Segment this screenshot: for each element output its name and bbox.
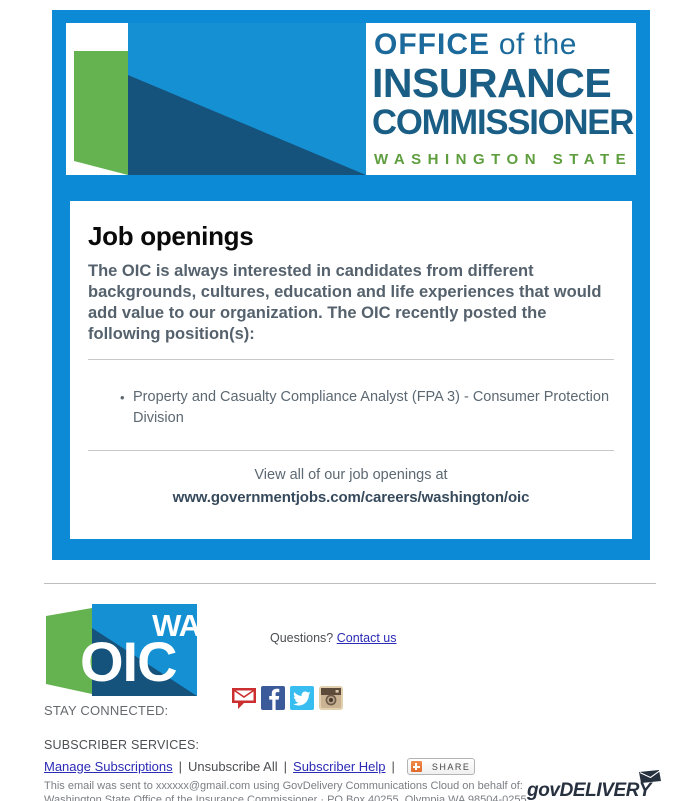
- envelope-icon: [639, 770, 661, 785]
- oic-logo-mark: [66, 23, 366, 175]
- logo-line-washington-state: WASHINGTON STATE: [374, 151, 632, 168]
- questions-line: Questions? Contact us: [270, 631, 396, 645]
- legal-line-1: This email was sent to xxxxxx@gmail.com …: [44, 779, 527, 793]
- twitter-icon[interactable]: [289, 685, 315, 711]
- logo-line-commissioner: COMMISSIONER: [372, 103, 633, 143]
- stay-connected-label: STAY CONNECTED:: [44, 703, 168, 718]
- footer-divider: [44, 583, 656, 584]
- link-separator-2: |: [278, 759, 293, 774]
- govdelivery-logo: govDELIVERY: [527, 770, 677, 801]
- logo-line-insurance: INSURANCE: [372, 60, 611, 107]
- list-item[interactable]: Property and Casualty Compliance Analyst…: [88, 387, 614, 429]
- job-openings-card: Job openings The OIC is always intereste…: [70, 201, 632, 539]
- intro-paragraph: The OIC is always interested in candidat…: [88, 261, 608, 345]
- view-all-url[interactable]: www.governmentjobs.com/careers/washingto…: [70, 489, 632, 506]
- view-all-label: View all of our job openings at: [70, 467, 632, 483]
- instagram-icon[interactable]: [318, 685, 344, 711]
- share-button-label: SHARE: [432, 762, 471, 772]
- divider-bottom: [88, 450, 614, 451]
- manage-subscriptions-link[interactable]: Manage Subscriptions: [44, 759, 173, 774]
- legal-line-2: Washington State Office of the Insurance…: [44, 793, 527, 801]
- email-icon[interactable]: [231, 685, 257, 711]
- wa-logo-bottom-text: OIC: [80, 634, 177, 690]
- subscriber-help-link[interactable]: Subscriber Help: [293, 759, 386, 774]
- subscriber-links-row: Manage Subscriptions | Unsubscribe All |…: [44, 758, 475, 775]
- oic-logo-wordmark: OFFICE of the INSURANCE COMMISSIONER WAS…: [366, 23, 636, 175]
- link-separator-3: |: [386, 759, 401, 774]
- job-list: Property and Casualty Compliance Analyst…: [88, 387, 614, 429]
- share-button[interactable]: SHARE: [407, 758, 476, 775]
- link-separator-1: |: [173, 759, 188, 774]
- email-page: OFFICE of the INSURANCE COMMISSIONER WAS…: [0, 0, 700, 801]
- govdelivery-wordmark: govDELIVERY: [527, 780, 651, 801]
- wa-oic-logo: WA OIC: [44, 598, 210, 696]
- contact-us-link[interactable]: Contact us: [337, 631, 397, 645]
- unsubscribe-all-link[interactable]: Unsubscribe All: [188, 759, 278, 774]
- social-links-row: [231, 685, 344, 711]
- logo-shapes-svg: [66, 23, 366, 175]
- page-title: Job openings: [88, 221, 253, 252]
- questions-label: Questions?: [270, 631, 337, 645]
- facebook-icon[interactable]: [260, 685, 286, 711]
- divider-top: [88, 359, 614, 360]
- legal-text: This email was sent to xxxxxx@gmail.com …: [44, 779, 527, 801]
- plus-icon: [411, 761, 422, 772]
- logo-line-office: OFFICE of the: [374, 28, 577, 62]
- oic-masthead-logo: OFFICE of the INSURANCE COMMISSIONER WAS…: [66, 23, 636, 175]
- subscriber-services-label: SUBSCRIBER SERVICES:: [44, 738, 199, 752]
